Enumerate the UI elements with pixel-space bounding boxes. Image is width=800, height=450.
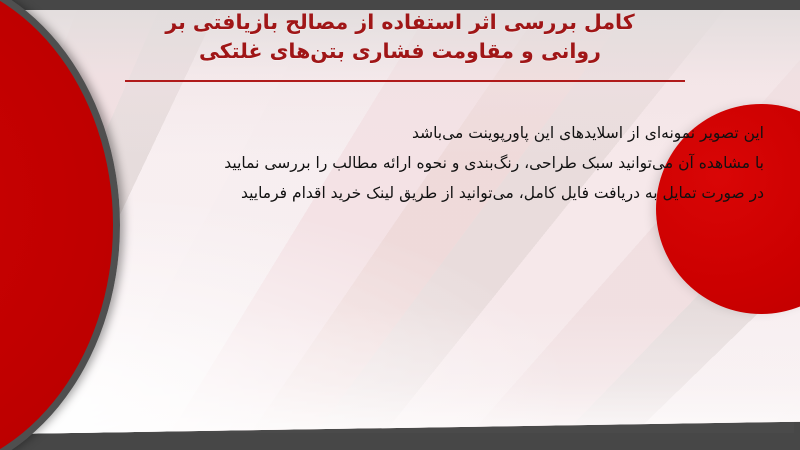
body-line-1: این تصویر نمونه‌ای از اسلایدهای این پاور… [42,118,764,148]
presentation-slide: کامل بررسی اثر استفاده از مصالح بازیافتی… [0,0,800,450]
slide-title-block: کامل بررسی اثر استفاده از مصالح بازیافتی… [110,8,690,66]
body-line-2: با مشاهده آن می‌توانید سبک طراحی، رنگ‌بن… [42,148,764,178]
slide-title: کامل بررسی اثر استفاده از مصالح بازیافتی… [110,8,690,66]
slide-body-block: این تصویر نمونه‌ای از اسلایدهای این پاور… [42,118,764,209]
title-underline-rule [125,80,685,82]
slide-content: کامل بررسی اثر استفاده از مصالح بازیافتی… [0,0,800,450]
body-line-3: در صورت تمایل به دریافت فایل کامل، می‌تو… [42,178,764,208]
